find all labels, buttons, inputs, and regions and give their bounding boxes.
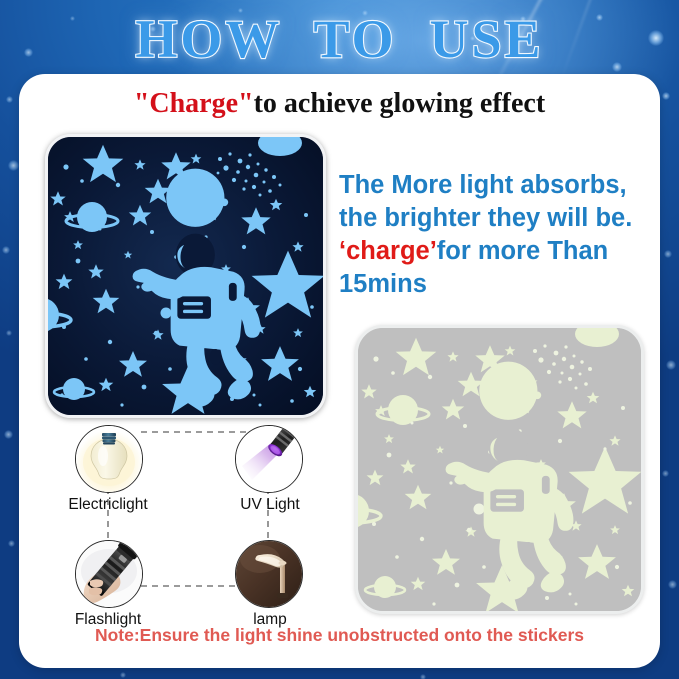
dark-panel-artwork <box>48 137 323 415</box>
headline-rest: to achieve glowing effect <box>254 88 546 119</box>
headline: "Charge"to achieve glowing effect <box>19 88 660 120</box>
handheld-flashlight-icon <box>75 540 143 608</box>
dark-sticker-panel <box>45 134 326 418</box>
desk-lamp-icon <box>235 540 303 608</box>
para-line-3-rest: for more Than <box>437 237 608 265</box>
note-text: Note:Ensure the light shine unobstructed… <box>19 625 660 646</box>
content-card: "Charge"to achieve glowing effect <box>19 74 660 668</box>
glow-sticker-panel <box>355 325 644 614</box>
uv-flashlight-icon <box>235 425 303 493</box>
uv-light-label: UV Light <box>189 496 351 514</box>
glow-panel-artwork <box>358 328 641 611</box>
para-line-3-highlight: ‘charge’ <box>339 237 437 265</box>
headline-quoted: "Charge" <box>134 88 254 119</box>
light-bulb-label: Electriclight <box>27 496 189 514</box>
instruction-paragraph: The More light absorbs, the brighter the… <box>339 169 649 301</box>
light-bulb-icon <box>75 425 143 493</box>
page-title: HOW TO USE <box>0 8 679 70</box>
para-line-2: the brighter they will be. <box>339 204 632 232</box>
para-line-1: The More light absorbs, <box>339 171 627 199</box>
how-to-use-infographic: HOW TO USE "Charge"to achieve glowing ef… <box>0 0 679 679</box>
para-line-4: 15mins <box>339 270 427 298</box>
